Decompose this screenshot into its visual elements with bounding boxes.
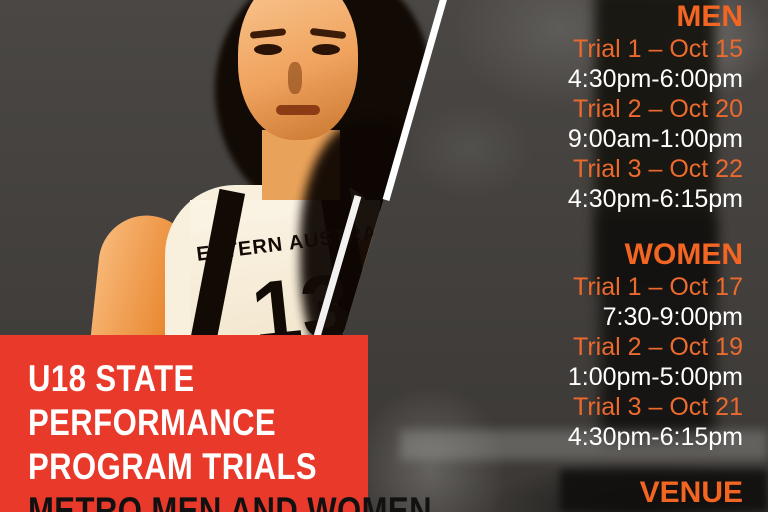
player-eye-right: [312, 44, 340, 55]
banner-subtitle: METRO MEN AND WOMEN: [28, 489, 357, 512]
schedule-column: MEN Trial 1 – Oct 15 4:30pm-6:00pm Trial…: [413, 0, 743, 510]
player-eye-left: [254, 44, 282, 55]
women-trial-1-time: 7:30-9:00pm: [413, 302, 743, 332]
venue-heading: VENUE: [413, 476, 743, 510]
venue-spacer: [413, 452, 743, 476]
banner-title-line-2: PERFORMANCE: [28, 401, 357, 445]
player-nose: [288, 62, 302, 94]
women-heading: WOMEN: [413, 238, 743, 272]
women-trial-2-time: 1:00pm-5:00pm: [413, 362, 743, 392]
men-heading: MEN: [413, 0, 743, 34]
banner-title-line-3: PROGRAM TRIALS: [28, 445, 357, 489]
men-trial-3-label: Trial 3 – Oct 22: [413, 154, 743, 184]
women-trial-3-time: 4:30pm-6:15pm: [413, 422, 743, 452]
banner-title-line-1: U18 STATE: [28, 357, 357, 401]
player-mouth: [276, 105, 320, 115]
section-spacer: [413, 214, 743, 238]
men-trial-1-time: 4:30pm-6:00pm: [413, 64, 743, 94]
women-trial-2-label: Trial 2 – Oct 19: [413, 332, 743, 362]
title-banner-text: U18 STATE PERFORMANCE PROGRAM TRIALS MET…: [0, 335, 420, 512]
men-trial-3-time: 4:30pm-6:15pm: [413, 184, 743, 214]
poster-root: ESTERN AUSTRALIA 13 U18 STATE PERFORMANC…: [0, 0, 768, 512]
men-trial-1-label: Trial 1 – Oct 15: [413, 34, 743, 64]
women-trial-3-label: Trial 3 – Oct 21: [413, 392, 743, 422]
women-trial-1-label: Trial 1 – Oct 17: [413, 272, 743, 302]
men-trial-2-label: Trial 2 – Oct 20: [413, 94, 743, 124]
men-trial-2-time: 9:00am-1:00pm: [413, 124, 743, 154]
